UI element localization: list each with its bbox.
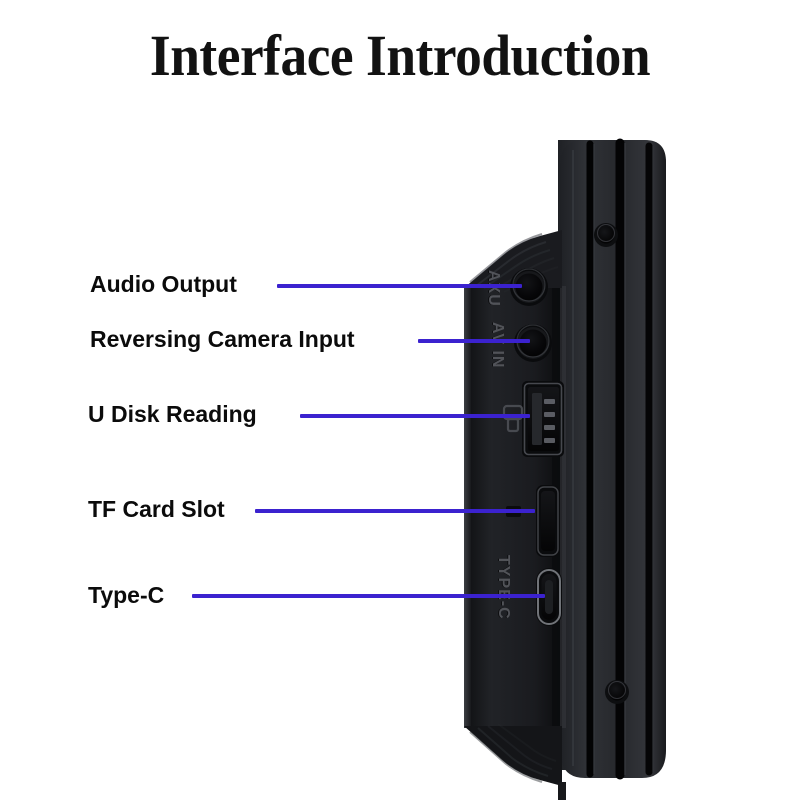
page-title: Interface Introduction bbox=[32, 22, 768, 89]
aux-engraving: AXU bbox=[484, 270, 502, 307]
callout-label-tf-card-slot: TF Card Slot bbox=[88, 498, 225, 521]
usb-a-port bbox=[522, 381, 564, 457]
leader-line-tf-card-slot bbox=[255, 509, 535, 513]
leader-line-reversing-camera-input bbox=[418, 339, 530, 343]
device-illustration: AXU AV IN TYPE-C bbox=[440, 110, 690, 800]
leader-line-type-c bbox=[192, 594, 545, 598]
microsd-card-slot bbox=[536, 485, 560, 557]
callout-label-u-disk-reading: U Disk Reading bbox=[88, 403, 257, 426]
screw-hole-lower bbox=[605, 680, 629, 704]
bottom-taper-steps bbox=[464, 724, 562, 786]
device-front-face bbox=[464, 238, 566, 728]
callout-label-type-c: Type-C bbox=[88, 584, 164, 607]
type-c-engraving: TYPE-C bbox=[494, 555, 512, 620]
av-in-jack bbox=[514, 324, 552, 362]
leader-line-u-disk-reading bbox=[300, 414, 530, 418]
leader-line-audio-output bbox=[277, 284, 522, 288]
screw-hole-top bbox=[594, 223, 618, 247]
interface-introduction-image: Interface Introduction bbox=[0, 0, 800, 800]
callout-label-audio-output: Audio Output bbox=[90, 273, 237, 296]
bottom-nub bbox=[558, 782, 566, 800]
callout-label-reversing-camera-input: Reversing Camera Input bbox=[90, 328, 355, 351]
av-in-engraving: AV IN bbox=[488, 322, 506, 368]
